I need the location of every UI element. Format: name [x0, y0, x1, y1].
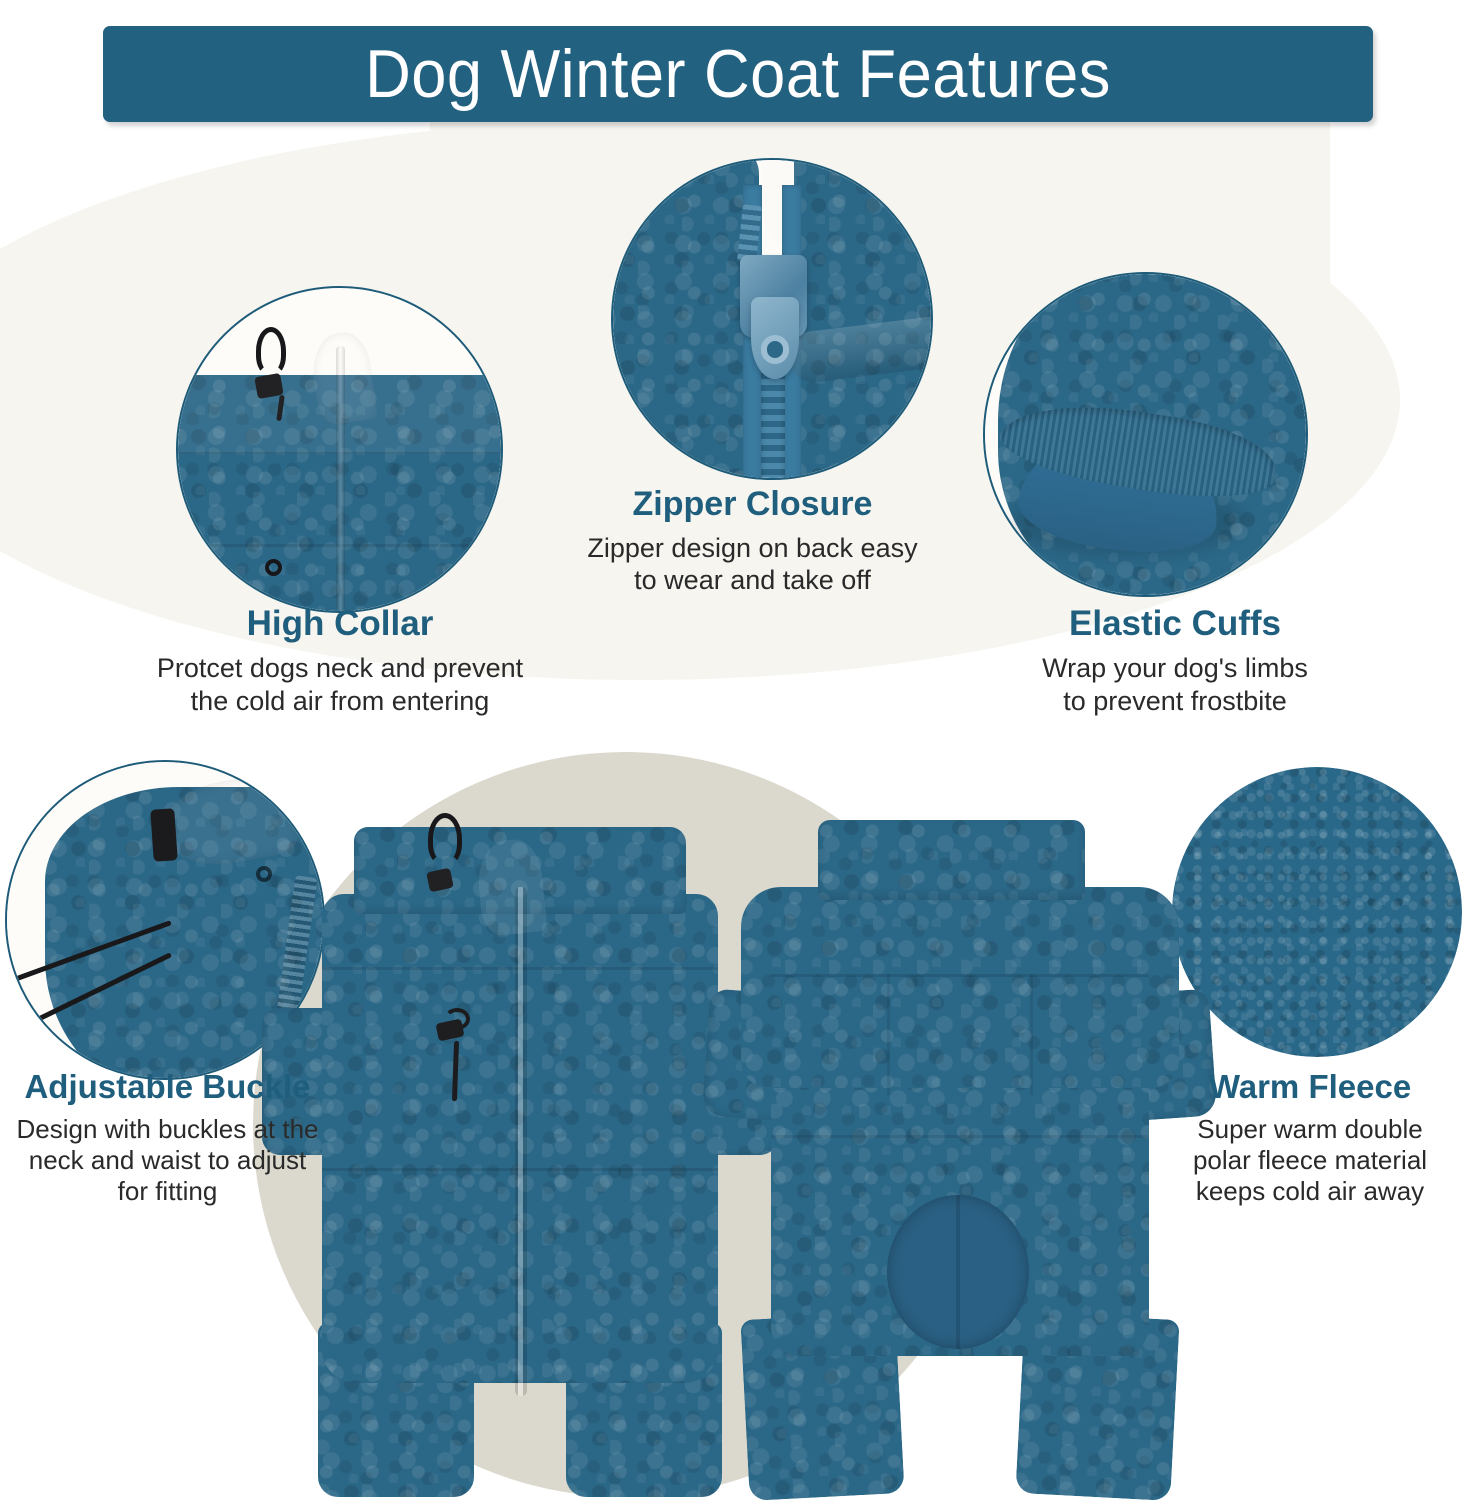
feature-caption-zipper-closure: Zipper Closure Zipper design on back eas…	[545, 485, 960, 597]
back-shoulder-panel	[741, 887, 1180, 1088]
collar-zipper-line	[336, 346, 345, 611]
page-title: Dog Winter Coat Features	[365, 40, 1111, 108]
feature-desc-line: Protcet dogs neck and prevent	[157, 653, 523, 683]
feature-desc-line: Zipper design on back easy	[587, 533, 917, 563]
feature-desc-line: Super warm double	[1197, 1114, 1422, 1144]
drawcord-loop-icon	[256, 327, 286, 375]
feature-caption-adjustable-buckle: Adjustable Buckle Design with buckles at…	[0, 1068, 335, 1208]
feature-image-high-collar	[176, 286, 503, 613]
feature-caption-elastic-cuffs: Elastic Cuffs Wrap your dog's limbs to p…	[960, 604, 1390, 717]
feature-desc-adjustable-buckle: Design with buckles at the neck and wais…	[0, 1114, 335, 1208]
feature-desc-elastic-cuffs: Wrap your dog's limbs to prevent frostbi…	[960, 652, 1390, 717]
title-banner: Dog Winter Coat Features	[103, 26, 1373, 122]
product-front-view	[290, 820, 750, 1490]
feature-desc-zipper-closure: Zipper design on back easy to wear and t…	[545, 532, 960, 597]
feature-caption-warm-fleece: Warm Fleece Super warm double polar flee…	[1145, 1068, 1475, 1208]
front-center-zipper	[515, 887, 527, 1396]
feature-desc-line: Wrap your dog's limbs	[1042, 653, 1308, 683]
feature-desc-warm-fleece: Super warm double polar fleece material …	[1145, 1114, 1475, 1208]
feature-caption-high-collar: High Collar Protcet dogs neck and preven…	[110, 604, 570, 717]
zipper-left-panel	[613, 160, 759, 478]
zipper-pull-hole	[761, 335, 790, 364]
zipper-photo	[613, 160, 931, 478]
feature-desc-line: neck and waist to adjust	[29, 1145, 307, 1175]
back-rear-opening-seam	[956, 1195, 960, 1349]
cord-stopper-icon	[151, 809, 179, 863]
back-collar	[818, 820, 1085, 900]
feature-title-adjustable-buckle: Adjustable Buckle	[0, 1068, 335, 1106]
feature-desc-line: keeps cold air away	[1196, 1176, 1424, 1206]
feature-desc-high-collar: Protcet dogs neck and prevent the cold a…	[110, 652, 570, 717]
feature-title-high-collar: High Collar	[110, 604, 570, 644]
high-collar-photo	[178, 288, 501, 611]
feature-image-zipper-closure	[611, 158, 933, 480]
feature-title-warm-fleece: Warm Fleece	[1145, 1068, 1475, 1106]
feature-image-elastic-cuffs	[983, 272, 1308, 597]
product-back-view	[745, 820, 1175, 1490]
feature-desc-line: to prevent frostbite	[1063, 686, 1287, 716]
feature-desc-line: for fitting	[118, 1176, 218, 1206]
warm-fleece-texture	[1172, 767, 1462, 1057]
feature-desc-line: the cold air from entering	[191, 686, 490, 716]
feature-title-zipper-closure: Zipper Closure	[545, 485, 960, 524]
feature-desc-line: Design with buckles at the	[16, 1114, 318, 1144]
front-collar-drawcord-loop-icon	[428, 813, 462, 865]
elastic-cuff-photo	[985, 274, 1306, 595]
feature-desc-line: to wear and take off	[634, 565, 871, 595]
feature-image-warm-fleece	[1172, 767, 1462, 1057]
back-waist-seam	[771, 1135, 1149, 1138]
back-vertical-seam-right	[1030, 974, 1033, 1095]
back-vertical-seam-left	[887, 974, 890, 1095]
back-yoke-seam	[771, 974, 1149, 977]
feature-desc-line: polar fleece material	[1193, 1145, 1427, 1175]
feature-title-elastic-cuffs: Elastic Cuffs	[960, 604, 1390, 644]
